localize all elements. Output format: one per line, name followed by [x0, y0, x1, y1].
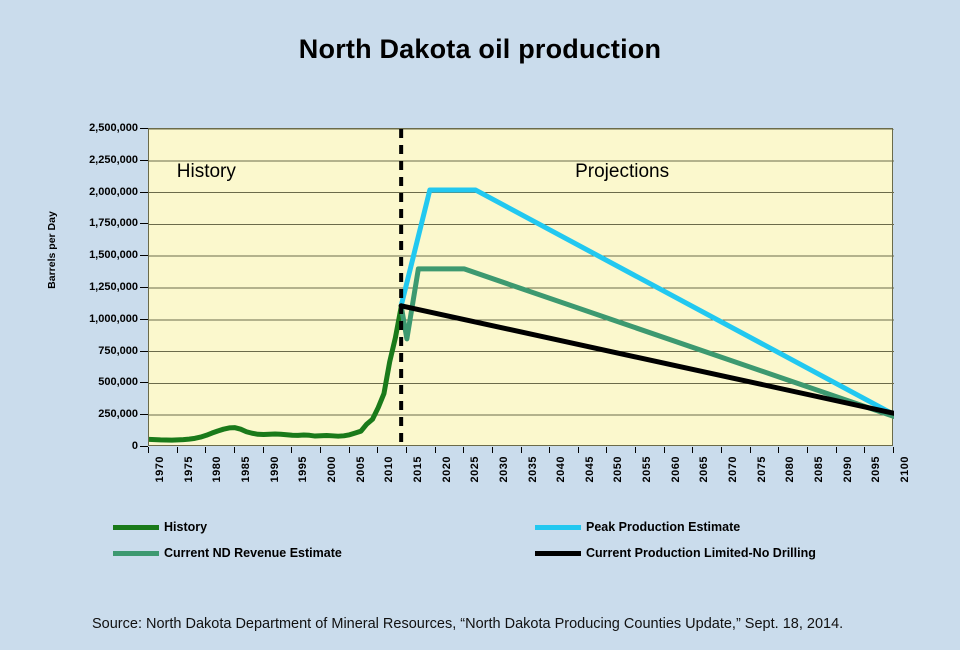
x-axis-tick-mark [778, 447, 779, 453]
y-axis-tick-mark [140, 128, 148, 129]
x-axis-tick-label: 2030 [498, 456, 510, 482]
x-axis-tick-mark [291, 447, 292, 453]
x-axis-tick-label: 2055 [641, 456, 653, 482]
x-axis-tick-label: 1990 [269, 456, 281, 482]
x-axis-tick-mark [377, 447, 378, 453]
plot-canvas [149, 129, 894, 447]
x-axis-tick-mark [807, 447, 808, 453]
x-axis-tick-label: 2020 [441, 456, 453, 482]
y-axis-tick-mark [140, 446, 148, 447]
legend-item[interactable]: Current ND Revenue Estimate [113, 544, 342, 562]
y-axis-tick-mark [140, 382, 148, 383]
x-axis-tick-label: 2080 [784, 456, 796, 482]
x-axis-tick-mark [521, 447, 522, 453]
x-axis-tick-mark [320, 447, 321, 453]
x-axis-tick-mark [263, 447, 264, 453]
legend-item-label: Peak Production Estimate [586, 520, 740, 534]
legend-item-label: Current ND Revenue Estimate [164, 546, 342, 560]
y-axis-tick-mark [140, 255, 148, 256]
x-axis-tick-mark [148, 447, 149, 453]
x-axis-tick-label: 2050 [612, 456, 624, 482]
x-axis-tick-mark [692, 447, 693, 453]
y-axis-tick-label: 1,750,000 [18, 217, 138, 229]
x-axis-tick-mark [721, 447, 722, 453]
chart-title: North Dakota oil production [0, 34, 960, 65]
x-axis-tick-labels: 1970197519801985199019952000200520102015… [148, 447, 893, 507]
annotation-history: History [177, 161, 236, 183]
x-axis-tick-mark [435, 447, 436, 453]
legend-item-label: History [164, 520, 207, 534]
x-axis-tick-label: 2015 [412, 456, 424, 482]
legend-swatch-icon [535, 525, 581, 530]
x-axis-tick-mark [177, 447, 178, 453]
x-axis-tick-mark [234, 447, 235, 453]
x-axis-tick-mark [463, 447, 464, 453]
chart-legend: History Current ND Revenue Estimate Peak… [0, 512, 960, 564]
x-axis-tick-label: 2060 [670, 456, 682, 482]
x-axis-tick-label: 2005 [355, 456, 367, 482]
legend-item[interactable]: Current Production Limited-No Drilling [535, 544, 816, 562]
annotation-projections: Projections [575, 161, 669, 183]
x-axis-tick-mark [893, 447, 894, 453]
y-axis-tick-label: 250,000 [18, 408, 138, 420]
legend-swatch-icon [113, 551, 159, 556]
x-axis-tick-label: 2035 [527, 456, 539, 482]
x-axis-tick-label: 2095 [870, 456, 882, 482]
x-axis-tick-label: 2090 [842, 456, 854, 482]
x-axis-tick-label: 1970 [154, 456, 166, 482]
legend-swatch-icon [535, 551, 581, 556]
x-axis-tick-label: 2045 [584, 456, 596, 482]
x-axis-tick-label: 2040 [555, 456, 567, 482]
x-axis-tick-mark [635, 447, 636, 453]
source-note: Source: North Dakota Department of Miner… [92, 616, 843, 632]
x-axis-tick-mark [836, 447, 837, 453]
x-axis-tick-mark [205, 447, 206, 453]
y-axis-tick-mark [140, 160, 148, 161]
x-axis-tick-label: 1975 [183, 456, 195, 482]
x-axis-tick-label: 2010 [383, 456, 395, 482]
legend-item-label: Current Production Limited-No Drilling [586, 546, 816, 560]
y-axis-tick-label: 500,000 [18, 376, 138, 388]
y-axis-tick-mark [140, 223, 148, 224]
y-axis-tick-mark [140, 192, 148, 193]
y-axis-tick-label: 750,000 [18, 345, 138, 357]
x-axis-tick-label: 2085 [813, 456, 825, 482]
x-axis-tick-label: 1980 [211, 456, 223, 482]
x-axis-tick-label: 2100 [899, 456, 911, 482]
x-axis-tick-label: 1985 [240, 456, 252, 482]
y-axis-tick-label: 2,000,000 [18, 186, 138, 198]
x-axis-tick-mark [750, 447, 751, 453]
y-axis-tick-labels: 0250,000500,000750,0001,000,0001,250,000… [18, 128, 144, 446]
y-axis-tick-mark [140, 351, 148, 352]
legend-item[interactable]: History [113, 518, 207, 536]
y-axis-tick-label: 2,500,000 [18, 122, 138, 134]
x-axis-tick-mark [578, 447, 579, 453]
x-axis-tick-label: 2070 [727, 456, 739, 482]
x-axis-tick-label: 2025 [469, 456, 481, 482]
x-axis-tick-mark [406, 447, 407, 453]
y-axis-tick-label: 1,500,000 [18, 249, 138, 261]
y-axis-tick-mark [140, 287, 148, 288]
legend-item[interactable]: Peak Production Estimate [535, 518, 740, 536]
chart-container: North Dakota oil production Barrels per … [0, 0, 960, 650]
plot-area [148, 128, 893, 446]
y-axis-tick-label: 2,250,000 [18, 154, 138, 166]
y-axis-tick-mark [140, 319, 148, 320]
x-axis-tick-mark [492, 447, 493, 453]
y-axis-tick-label: 0 [18, 440, 138, 452]
x-axis-tick-mark [864, 447, 865, 453]
x-axis-tick-mark [549, 447, 550, 453]
x-axis-tick-mark [349, 447, 350, 453]
x-axis-tick-label: 2065 [698, 456, 710, 482]
x-axis-tick-label: 2075 [756, 456, 768, 482]
x-axis-tick-mark [606, 447, 607, 453]
x-axis-tick-label: 1995 [297, 456, 309, 482]
y-axis-tick-mark [140, 414, 148, 415]
y-axis-tick-label: 1,250,000 [18, 281, 138, 293]
y-axis-tick-label: 1,000,000 [18, 313, 138, 325]
x-axis-tick-mark [664, 447, 665, 453]
legend-swatch-icon [113, 525, 159, 530]
x-axis-tick-label: 2000 [326, 456, 338, 482]
